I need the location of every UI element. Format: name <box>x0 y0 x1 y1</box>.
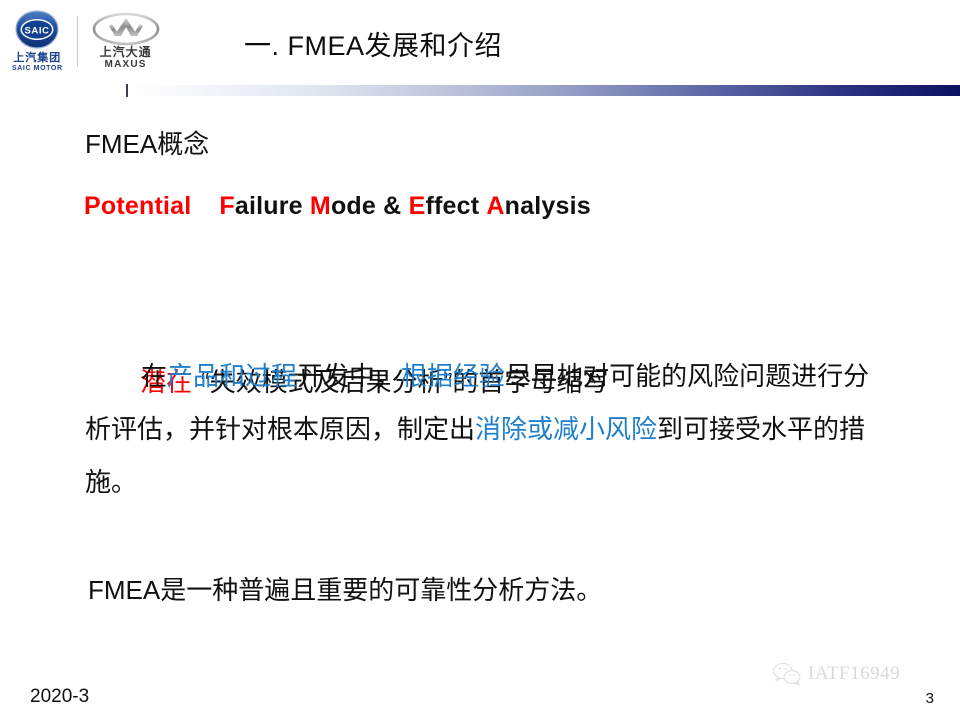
maxus-logo-en: MAXUS <box>105 59 147 70</box>
svg-text:SAIC: SAIC <box>25 25 50 36</box>
concept-heading: FMEA概念 <box>85 124 209 161</box>
acronym-ffect: ffect <box>425 192 479 220</box>
watermark: IATF16949 <box>772 661 900 687</box>
slide-canvas: SAIC 上汽集团 SAIC MOTOR 上汽大通 <box>0 0 960 720</box>
acronym-nalysis: nalysis <box>505 192 591 220</box>
acronym-amp: & <box>383 192 401 220</box>
para-seg4: 根据经验 <box>401 361 505 391</box>
definition-paragraph: 在产品和过程开发中，根据经验尽早地对可能的风险问题进行分析评估，并针对根本原因，… <box>85 350 875 509</box>
logo-divider <box>77 16 78 66</box>
acronym-ode: ode <box>331 192 376 220</box>
acronym-m: M <box>310 192 331 220</box>
para-seg3: 开发中， <box>297 361 401 391</box>
acronym-ailure: ailure <box>235 192 303 220</box>
para-seg2: 产品和过程 <box>167 361 297 391</box>
acronym-e: E <box>409 192 426 220</box>
acronym-f: F <box>219 192 234 220</box>
acronym-line: PotentialFailure Mode & Effect Analysis <box>84 192 591 221</box>
saic-logo: SAIC 上汽集团 SAIC MOTOR <box>12 10 63 73</box>
saic-emblem-icon: SAIC <box>14 10 60 50</box>
wechat-icon <box>772 661 802 687</box>
header-logo-group: SAIC 上汽集团 SAIC MOTOR 上汽大通 <box>12 6 160 76</box>
maxus-logo: 上汽大通 MAXUS <box>92 12 160 70</box>
footer-date: 2020-3 <box>30 686 89 708</box>
title-rule-tick <box>126 84 128 97</box>
page-title: 一. FMEA发展和介绍 <box>244 24 502 63</box>
title-rule-gradient <box>130 85 960 96</box>
para-seg6: 消除或减小风险 <box>475 414 657 444</box>
page-number: 3 <box>926 690 934 707</box>
saic-logo-en: SAIC MOTOR <box>12 64 63 73</box>
acronym-potential: Potential <box>84 192 191 220</box>
closing-line: FMEA是一种普遍且重要的可靠性分析方法。 <box>88 570 602 607</box>
maxus-emblem-icon <box>92 12 160 46</box>
watermark-text: IATF16949 <box>808 663 900 685</box>
para-seg1: 在 <box>141 361 167 391</box>
maxus-logo-cn: 上汽大通 <box>100 46 152 59</box>
title-separator <box>126 84 960 97</box>
acronym-a: A <box>486 192 504 220</box>
saic-logo-cn: 上汽集团 <box>13 52 61 64</box>
